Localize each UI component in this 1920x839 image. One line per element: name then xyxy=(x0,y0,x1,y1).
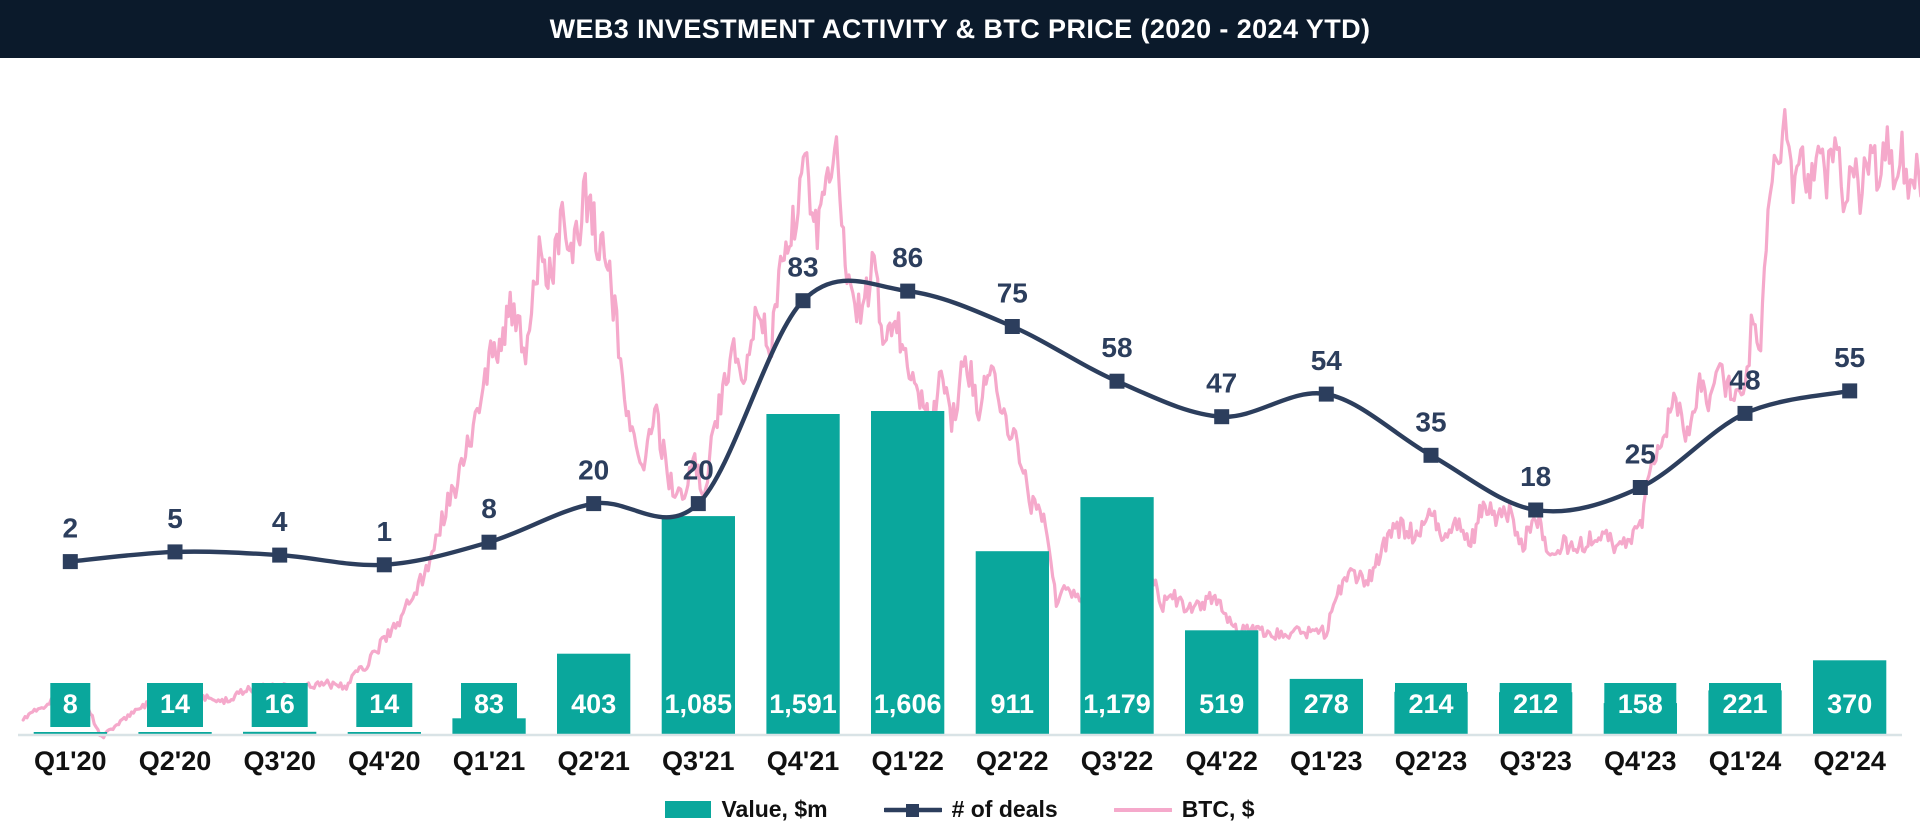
deals-point-marker[interactable] xyxy=(1738,406,1753,421)
value-bar[interactable] xyxy=(766,414,839,735)
legend-item-btc[interactable]: BTC, $ xyxy=(1114,796,1255,823)
deals-line xyxy=(70,281,1849,565)
chart-header-bar: WEB3 INVESTMENT ACTIVITY & BTC PRICE (20… xyxy=(0,0,1920,58)
deals-value-label: 86 xyxy=(892,242,923,273)
deals-point-marker[interactable] xyxy=(1424,448,1439,463)
deals-value-label: 2 xyxy=(63,513,79,544)
bar-value-label: 519 xyxy=(1199,689,1244,719)
line-square-marker-swatch-icon xyxy=(884,801,942,819)
value-bar[interactable] xyxy=(871,411,944,735)
deals-value-labels-group: 2541820208386755847543518254855 xyxy=(63,242,1866,547)
deals-value-label: 35 xyxy=(1415,406,1446,437)
x-axis-tick-label: Q3'23 xyxy=(1499,746,1571,776)
bar-value-label: 403 xyxy=(571,689,616,719)
x-axis-tick-label: Q1'20 xyxy=(34,746,106,776)
deals-point-marker[interactable] xyxy=(1110,374,1125,389)
x-axis-tick-label: Q4'21 xyxy=(767,746,839,776)
x-axis-tick-label: Q1'21 xyxy=(453,746,525,776)
chart-page: WEB3 INVESTMENT ACTIVITY & BTC PRICE (20… xyxy=(0,0,1920,839)
legend-label-btc: BTC, $ xyxy=(1182,796,1255,823)
x-axis-tick-label: Q2'24 xyxy=(1813,746,1885,776)
btc-price-line-group xyxy=(23,110,1920,738)
bar-value-labels-group: 8141614834031,0851,5911,6069111,17951927… xyxy=(50,683,1872,727)
legend-label-value: Value, $m xyxy=(721,796,827,823)
line-swatch-icon xyxy=(1114,801,1172,819)
x-axis-tick-label: Q3'20 xyxy=(243,746,315,776)
x-axis-tick-label: Q2'21 xyxy=(557,746,629,776)
deals-point-marker[interactable] xyxy=(482,535,497,550)
deals-value-label: 48 xyxy=(1729,364,1760,395)
x-axis-tick-label: Q3'21 xyxy=(662,746,734,776)
legend-label-deals: # of deals xyxy=(952,796,1058,823)
bar-value-label: 1,085 xyxy=(665,689,733,719)
deals-value-label: 55 xyxy=(1834,342,1865,373)
deals-value-label: 5 xyxy=(167,503,183,534)
deals-point-marker[interactable] xyxy=(1842,383,1857,398)
x-axis-tick-label: Q2'23 xyxy=(1395,746,1467,776)
bar-swatch-icon xyxy=(665,801,711,818)
deals-value-label: 20 xyxy=(683,455,714,486)
deals-point-marker[interactable] xyxy=(1319,387,1334,402)
chart-legend: Value, $m # of deals BTC, $ xyxy=(0,780,1920,839)
deals-point-marker[interactable] xyxy=(586,496,601,511)
deals-line-group xyxy=(70,281,1849,565)
bar-value-label: 370 xyxy=(1827,689,1872,719)
bar-value-label: 214 xyxy=(1408,689,1453,719)
x-axis-tick-label: Q1'22 xyxy=(871,746,943,776)
x-axis-tick-labels-group: Q1'20Q2'20Q3'20Q4'20Q1'21Q2'21Q3'21Q4'21… xyxy=(34,746,1886,776)
bar-value-label: 16 xyxy=(265,689,295,719)
x-axis-tick-label: Q2'22 xyxy=(976,746,1048,776)
bar-value-label: 911 xyxy=(991,689,1035,719)
bar-value-label: 221 xyxy=(1722,689,1767,719)
deals-point-marker[interactable] xyxy=(168,544,183,559)
deals-point-marker[interactable] xyxy=(1528,503,1543,518)
btc-price-line xyxy=(23,110,1920,738)
bar-value-label: 83 xyxy=(474,689,504,719)
bar-value-label: 1,179 xyxy=(1083,689,1151,719)
bar-value-label: 14 xyxy=(160,689,190,719)
deals-value-label: 47 xyxy=(1206,368,1237,399)
deals-value-label: 4 xyxy=(272,506,288,537)
legend-item-deals[interactable]: # of deals xyxy=(884,796,1058,823)
deals-point-marker[interactable] xyxy=(1214,409,1229,424)
bar-value-label: 278 xyxy=(1304,689,1349,719)
x-axis-tick-label: Q2'20 xyxy=(139,746,211,776)
deals-value-label: 25 xyxy=(1625,439,1656,470)
deals-point-marker[interactable] xyxy=(272,548,287,563)
bar-value-label: 1,606 xyxy=(874,689,942,719)
deals-point-marker[interactable] xyxy=(691,496,706,511)
x-axis-tick-label: Q1'23 xyxy=(1290,746,1362,776)
deals-value-label: 18 xyxy=(1520,461,1551,492)
bar-value-label: 212 xyxy=(1513,689,1558,719)
chart-canvas: 2541820208386755847543518254855 81416148… xyxy=(0,58,1920,780)
x-axis-tick-label: Q3'22 xyxy=(1081,746,1153,776)
deals-value-label: 8 xyxy=(481,493,497,524)
deals-point-marker[interactable] xyxy=(377,557,392,572)
deals-point-marker[interactable] xyxy=(1005,319,1020,334)
x-axis-tick-label: Q4'22 xyxy=(1185,746,1257,776)
x-axis-tick-label: Q1'24 xyxy=(1709,746,1781,776)
deals-markers-group xyxy=(63,284,1857,573)
bar-value-label: 1,591 xyxy=(769,689,837,719)
deals-value-label: 58 xyxy=(1101,332,1132,363)
page-title: WEB3 INVESTMENT ACTIVITY & BTC PRICE (20… xyxy=(550,14,1371,45)
plot-area: 2541820208386755847543518254855 81416148… xyxy=(0,58,1920,780)
deals-value-label: 54 xyxy=(1311,345,1343,376)
x-axis-tick-label: Q4'20 xyxy=(348,746,420,776)
x-axis-tick-label: Q4'23 xyxy=(1604,746,1676,776)
deals-value-label: 1 xyxy=(377,516,393,547)
deals-point-marker[interactable] xyxy=(796,293,811,308)
bar-value-label: 8 xyxy=(63,689,78,719)
deals-point-marker[interactable] xyxy=(900,284,915,299)
legend-item-value[interactable]: Value, $m xyxy=(665,796,827,823)
bar-value-label: 158 xyxy=(1618,689,1663,719)
deals-value-label: 83 xyxy=(787,252,818,283)
deals-point-marker[interactable] xyxy=(63,554,78,569)
bar-value-label: 14 xyxy=(369,689,399,719)
value-bar[interactable] xyxy=(1185,630,1258,735)
deals-point-marker[interactable] xyxy=(1633,480,1648,495)
deals-value-label: 75 xyxy=(997,278,1028,309)
deals-value-label: 20 xyxy=(578,455,609,486)
